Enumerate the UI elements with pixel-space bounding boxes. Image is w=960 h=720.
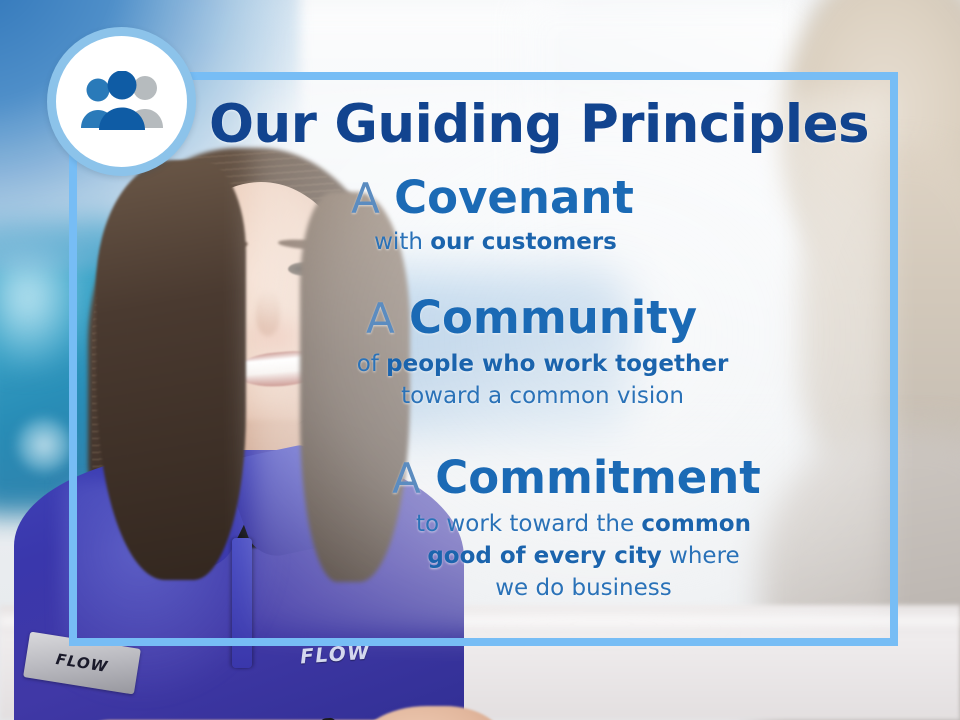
emphasis-text: our customers	[430, 229, 617, 255]
emphasis-text: good of every city	[427, 543, 661, 569]
principle-covenant: A Covenant with our customers	[69, 174, 898, 259]
principle-subtext-line: we do business	[269, 573, 898, 605]
plain-text: with	[374, 229, 430, 255]
principle-keyword: Commitment	[435, 451, 761, 504]
principle-subtext-line: of people who work together	[187, 349, 898, 381]
plain-text: of	[357, 351, 386, 377]
banner-content: Our Guiding Principles A Covenant with o…	[69, 72, 898, 646]
principle-article: A	[351, 174, 380, 223]
principle-subtext: of people who work togethertoward a comm…	[69, 349, 898, 412]
principle-keyword: Community	[409, 291, 697, 344]
guiding-principles-banner: FLOW FLOW Our Guiding Principles A Coven…	[0, 0, 960, 720]
plain-text: we do business	[495, 575, 672, 601]
principle-article: A	[366, 294, 395, 343]
principle-heading: A Community	[69, 294, 898, 341]
principle-subtext-line: with our customers	[93, 227, 898, 259]
principle-subtext: with our customers	[69, 227, 898, 259]
principle-heading: A Covenant	[69, 174, 898, 221]
page-title: Our Guiding Principles	[209, 98, 869, 151]
people-group-icon	[70, 71, 174, 133]
people-badge	[47, 27, 196, 176]
principle-heading: A Commitment	[69, 454, 898, 501]
plain-text: to work toward the	[416, 511, 641, 537]
principle-community: A Community of people who work togethert…	[69, 294, 898, 413]
principle-commitment: A Commitment to work toward the commongo…	[69, 454, 898, 604]
principle-subtext: to work toward the commongood of every c…	[69, 509, 898, 604]
plain-text: where	[662, 543, 740, 569]
principle-subtext-line: toward a common vision	[187, 381, 898, 413]
plain-text: toward a common vision	[401, 383, 684, 409]
principle-subtext-line: good of every city where	[269, 541, 898, 573]
emphasis-text: common	[641, 511, 751, 537]
name-badge-logo-text: FLOW	[55, 650, 110, 676]
principle-keyword: Covenant	[394, 171, 634, 224]
emphasis-text: people who work together	[386, 351, 728, 377]
principle-article: A	[392, 454, 421, 503]
principle-subtext-line: to work toward the common	[269, 509, 898, 541]
